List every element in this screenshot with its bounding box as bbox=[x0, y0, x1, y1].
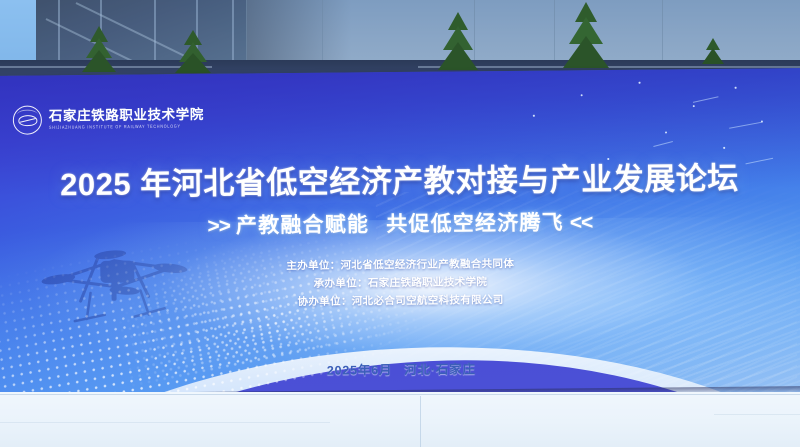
subhead-right-marks: << bbox=[564, 211, 599, 235]
particle-dot bbox=[735, 87, 737, 89]
particle-dash bbox=[729, 122, 763, 129]
banner-subheadline: >>产教融合赋能共促低空经济腾飞<< bbox=[0, 204, 800, 242]
evergreen-tree bbox=[563, 2, 609, 70]
evergreen-tree bbox=[175, 28, 211, 70]
banner-dateline: 2025年6月河北·石家庄 bbox=[0, 355, 800, 382]
floor-seam bbox=[420, 396, 421, 447]
event-location: 河北·石家庄 bbox=[404, 362, 476, 377]
institution-logo: 石家庄铁路职业技术学院 SHIJIAZHUANG INSTITUTE OF RA… bbox=[13, 104, 204, 135]
subhead-part-one: 产教融合赋能 bbox=[236, 213, 369, 237]
institution-name-cn: 石家庄铁路职业技术学院 bbox=[49, 108, 204, 123]
floor-seam bbox=[714, 414, 800, 415]
institution-name-en: SHIJIAZHUANG INSTITUTE OF RAILWAY TECHNO… bbox=[49, 125, 204, 131]
particle-dot bbox=[665, 131, 667, 133]
particle-dot bbox=[533, 115, 535, 117]
particle-dash bbox=[693, 96, 719, 103]
particle-dot bbox=[693, 105, 695, 107]
organizer-block: 主办单位：河北省低空经济行业产教融合共同体 承办单位：石家庄铁路职业技术学院 协… bbox=[0, 252, 800, 314]
particle-dot bbox=[581, 94, 583, 96]
evergreen-tree bbox=[438, 12, 478, 70]
particle-dot bbox=[761, 121, 763, 123]
subhead-part-two: 共促低空经济腾飞 bbox=[386, 211, 564, 236]
evergreen-tree bbox=[700, 36, 726, 70]
event-date: 2025年6月 bbox=[327, 363, 393, 378]
institution-name-block: 石家庄铁路职业技术学院 SHIJIAZHUANG INSTITUTE OF RA… bbox=[49, 108, 204, 130]
particle-dash bbox=[653, 141, 673, 147]
screenshot-root: 石家庄铁路职业技术学院 SHIJIAZHUANG INSTITUTE OF RA… bbox=[0, 0, 800, 447]
subhead-left-marks: >> bbox=[201, 215, 236, 239]
university-seal-icon bbox=[13, 105, 42, 134]
particle-dot bbox=[723, 147, 725, 149]
particle-dot bbox=[639, 82, 641, 84]
event-banner: 石家庄铁路职业技术学院 SHIJIAZHUANG INSTITUTE OF RA… bbox=[0, 68, 800, 404]
banner-headline: 2025 年河北省低空经济产教对接与产业发展论坛 bbox=[0, 152, 800, 205]
floor-seam bbox=[0, 422, 330, 423]
evergreen-tree bbox=[82, 26, 116, 70]
floor-seam bbox=[0, 394, 800, 395]
floor-below-banner bbox=[0, 392, 800, 447]
